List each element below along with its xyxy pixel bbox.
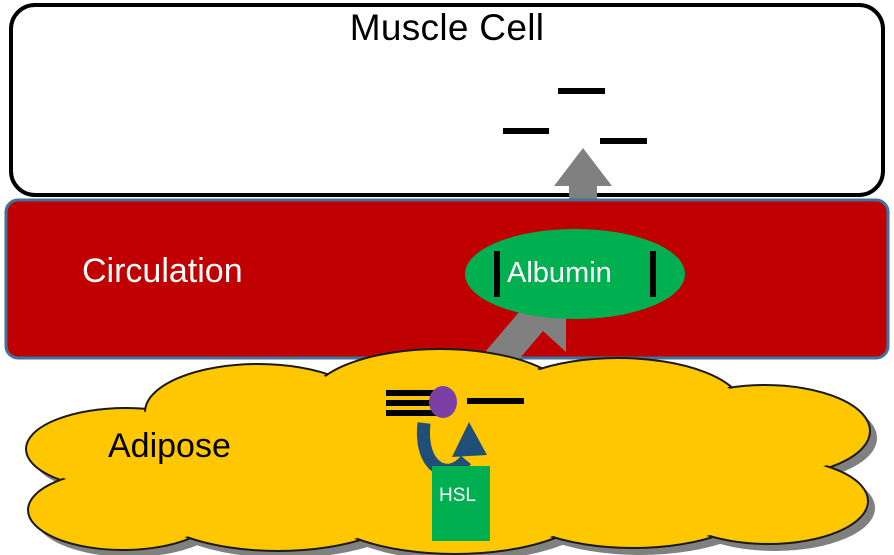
albumin-bound-fatty-acid-left	[494, 251, 500, 297]
hsl-enzyme-box	[432, 466, 490, 541]
diagram-svg	[0, 0, 894, 555]
muscle-cell-box	[11, 5, 883, 195]
free-fatty-acid-muscle-3	[600, 138, 647, 144]
albumin-bound-fatty-acid-right	[650, 251, 656, 297]
free-fatty-acid-muscle-1	[558, 88, 605, 94]
diagram-canvas: Muscle Cell Circulation Albumin Adipose …	[0, 0, 894, 555]
glycerol-head	[429, 386, 457, 418]
circulation-band	[6, 200, 888, 358]
triglyceride	[386, 386, 457, 418]
free-fatty-acid-adipose-1	[467, 398, 524, 404]
free-fatty-acid-muscle-2	[503, 128, 549, 134]
